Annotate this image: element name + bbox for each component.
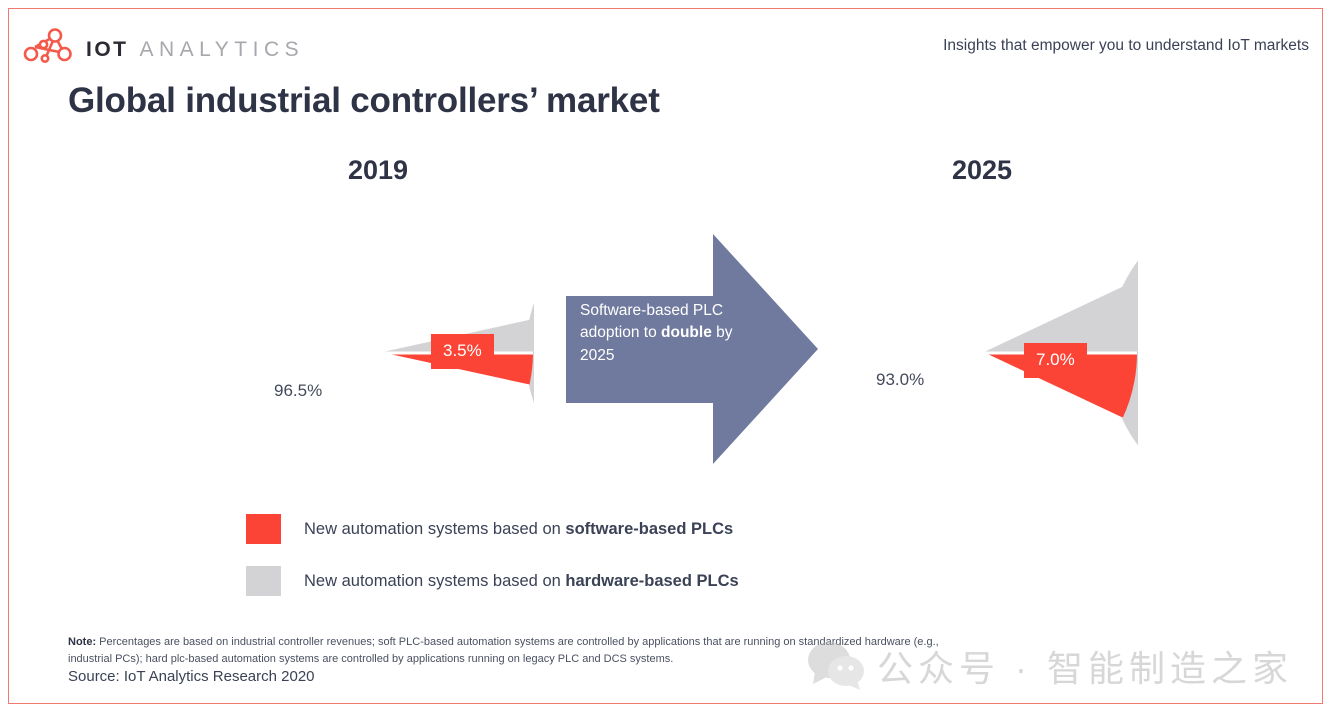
wordmark-iot: IOT [86, 38, 129, 61]
arrow-line-1: Software-based PLC [580, 302, 723, 319]
chart-legend: New automation systems based on software… [246, 514, 739, 618]
pie-2019-major-label: 96.5% [274, 381, 322, 401]
legend-label-hardware: New automation systems based on hardware… [304, 572, 739, 591]
footnote-label: Note: [68, 636, 96, 648]
arrow-line-2-post: by [712, 324, 733, 341]
legend-hardware-bold: hardware-based PLCs [565, 572, 738, 590]
arrow-line-2-bold: double [661, 324, 712, 341]
iot-network-logo-icon [22, 27, 74, 67]
watermark: 公众号 · 智能制造之家 [805, 640, 1293, 692]
pie-2025-major-label: 93.0% [876, 370, 924, 390]
arrow-line-2-pre: adoption to [580, 324, 661, 341]
watermark-text: 公众号 · 智能制造之家 [877, 640, 1293, 692]
legend-swatch-software [246, 514, 281, 544]
page-title: Global industrial controllers’ market [68, 81, 660, 121]
legend-software-bold: software-based PLCs [565, 520, 733, 538]
pie-chart-2019: 2019 96.5% 3.5% [222, 155, 534, 507]
pie-chart-2025: 2025 93.0% 7.0% [826, 155, 1138, 507]
slide-canvas: IOTANALYTICS Insights that empower you t… [0, 0, 1331, 712]
legend-item-hardware: New automation systems based on hardware… [246, 566, 739, 596]
footnote-source: Source: IoT Analytics Research 2020 [68, 668, 315, 685]
legend-label-software: New automation systems based on software… [304, 520, 733, 539]
legend-hardware-text: New automation systems based on [304, 572, 565, 590]
pie-2019-minor-callout: 3.5% [431, 334, 494, 369]
legend-item-software: New automation systems based on software… [246, 514, 739, 544]
brand-wordmark: IOTANALYTICS [86, 38, 304, 62]
wechat-icon [805, 640, 867, 692]
pie-2019-year-label: 2019 [222, 155, 534, 186]
header-tagline: Insights that empower you to understand … [943, 37, 1309, 55]
arrow-message: Software-based PLC adoption to double by… [580, 300, 740, 367]
legend-swatch-hardware [246, 566, 281, 596]
arrow-line-3: 2025 [580, 347, 614, 364]
transition-arrow: Software-based PLC adoption to double by… [566, 234, 818, 464]
pie-2025-minor-callout: 7.0% [1024, 343, 1087, 378]
wordmark-analytics: ANALYTICS [140, 38, 305, 61]
legend-software-text: New automation systems based on [304, 520, 565, 538]
pie-2025-svg [826, 197, 1138, 509]
pie-2025-year-label: 2025 [826, 155, 1138, 186]
